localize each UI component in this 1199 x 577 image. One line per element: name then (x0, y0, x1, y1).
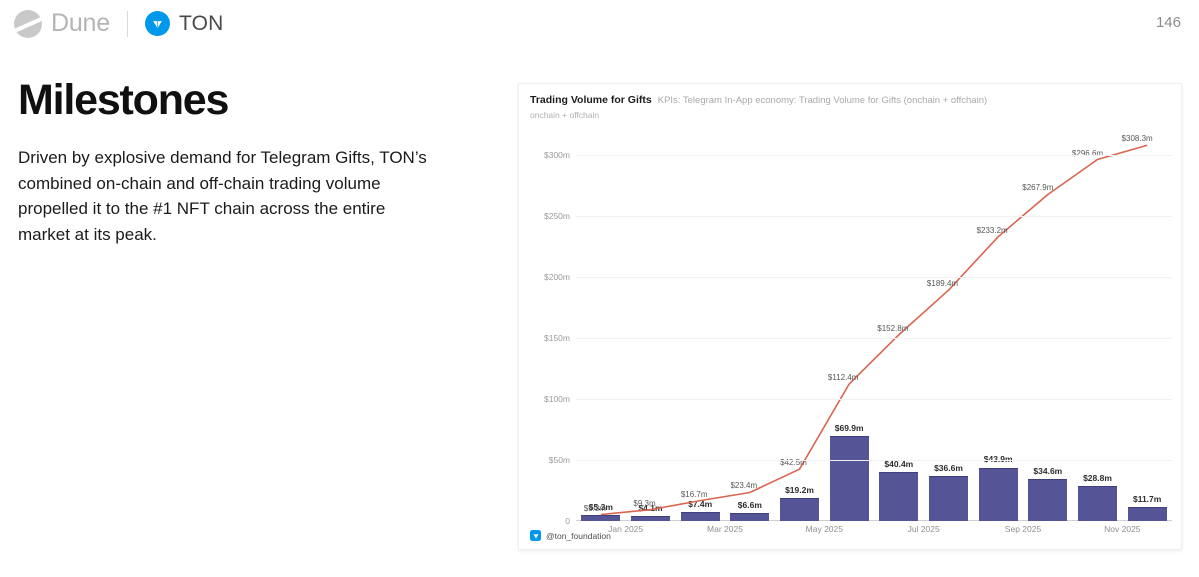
gridline (576, 460, 1172, 461)
page-number: 146 (1156, 14, 1181, 31)
line-value-label: $5.3m (584, 504, 606, 513)
line-value-label: $23.4m (730, 481, 757, 490)
y-axis: 0$50m$100m$150m$200m$250m$300m (530, 131, 576, 521)
line-value-label: $233.2m (977, 226, 1008, 235)
y-axis-tick: $50m (549, 455, 570, 465)
chart-header: Trading Volume for Gifts KPIs: Telegram … (519, 84, 1181, 120)
chart-author-handle: @ton_foundation (546, 531, 611, 541)
gridline (576, 277, 1172, 278)
y-axis-tick: 0 (565, 516, 570, 526)
line-value-label: $308.3m (1122, 134, 1153, 143)
y-axis-tick: $250m (544, 211, 570, 221)
x-axis-tick: Jul 2025 (908, 524, 940, 534)
line-value-label: $16.7m (681, 490, 708, 499)
x-axis-tick: Mar 2025 (707, 524, 743, 534)
plot-grid: $5.3m$4.1m$7.4m$6.6m$19.2m$69.9m$40.4m$3… (576, 131, 1172, 521)
y-axis-tick: $100m (544, 394, 570, 404)
dune-wordmark: Dune (51, 9, 110, 38)
page-title: Milestones (18, 78, 458, 123)
chart-plot-area: 0$50m$100m$150m$200m$250m$300m $5.3m$4.1… (530, 131, 1172, 521)
x-axis-tick: Nov 2025 (1104, 524, 1140, 534)
y-axis-tick: $150m (544, 333, 570, 343)
gridline (576, 155, 1172, 156)
dune-logo-icon (14, 10, 42, 38)
gridline (576, 399, 1172, 400)
ton-wordmark: TON (179, 12, 224, 36)
ton-logo-icon (145, 11, 170, 36)
chart-title-suffix: KPIs: Telegram In-App economy: Trading V… (658, 95, 987, 106)
ton-badge-icon (530, 530, 541, 541)
chart-footer: @ton_foundation (530, 530, 611, 541)
slide-text-column: Milestones Driven by explosive demand fo… (18, 78, 458, 247)
slide-header: Dune TON 146 (0, 0, 1199, 52)
brand-divider (127, 11, 128, 37)
y-axis-tick: $300m (544, 150, 570, 160)
slide-page: Dune TON 146 Milestones Driven by explos… (0, 0, 1199, 577)
cumulative-line-series (576, 131, 1172, 521)
chart-title: Trading Volume for Gifts (530, 94, 652, 106)
chart-panel[interactable]: Trading Volume for Gifts KPIs: Telegram … (518, 83, 1182, 550)
x-axis-tick: Jan 2025 (608, 524, 643, 534)
line-value-label: $189.4m (927, 279, 958, 288)
line-value-label: $152.8m (877, 324, 908, 333)
line-value-label: $267.9m (1022, 183, 1053, 192)
chart-subtitle: onchain + offchain (530, 110, 1181, 120)
gridline (576, 216, 1172, 217)
slide-body-text: Driven by explosive demand for Telegram … (18, 145, 428, 247)
x-axis-tick: Sep 2025 (1005, 524, 1041, 534)
x-axis: Jan 2025Mar 2025May 2025Jul 2025Sep 2025… (576, 524, 1172, 538)
line-value-label: $112.4m (828, 373, 859, 382)
line-value-label: $9.3m (633, 499, 655, 508)
gridline (576, 338, 1172, 339)
x-axis-tick: May 2025 (806, 524, 843, 534)
y-axis-tick: $200m (544, 272, 570, 282)
brand-bar: Dune TON (14, 9, 224, 38)
